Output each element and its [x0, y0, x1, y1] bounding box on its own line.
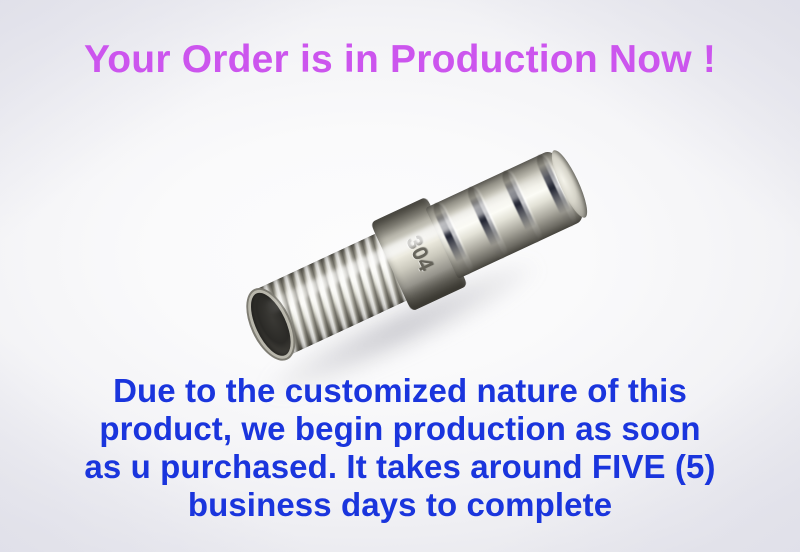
notice-line: Due to the customized nature of this: [0, 372, 800, 410]
notice-line: as u purchased. It takes around FIVE (5): [0, 448, 800, 486]
hose-barb-fitting: 304: [215, 92, 617, 407]
product-photo: 304: [0, 120, 800, 370]
production-notice-card: Your Order is in Production Now ! 304 Du…: [0, 0, 800, 552]
production-notice-text: Due to the customized nature of this pro…: [0, 372, 800, 524]
notice-line: business days to complete: [0, 486, 800, 524]
page-title: Your Order is in Production Now !: [0, 38, 800, 82]
notice-line: product, we begin production as soon: [0, 410, 800, 448]
